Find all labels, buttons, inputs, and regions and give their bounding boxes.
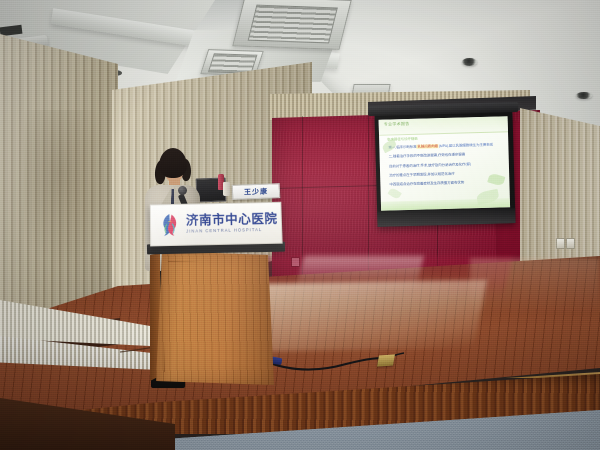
podium-sign-english: JINAN CENTRAL HOSPITAL [186,228,278,234]
recessed-downlight-icon [576,92,592,99]
projection-screen: 专业学术报告 临床路径与诊疗规范 第一,临床诊断标准乳腺间质肉瘤(MPA),是以… [374,111,515,227]
slide-bullet-post: (MPA),是以乳腺细胞增生为主要表现 [439,143,493,149]
paper-cup-icon [223,182,230,196]
jinan-central-hospital-logo-icon [156,212,182,239]
slide-bullet-highlight: 乳腺间质肉瘤 [416,144,439,149]
podium-sign-text: 济南市中心医院 JINAN CENTRAL HOSPITAL [186,213,278,234]
slide-bullet: 中西医结合治疗在改善症状及生存质量方面有优势 [389,181,501,188]
slide-bullet: 二,随着治疗手段的不断改进提高,疗效也在逐步提高 [389,153,501,160]
microphone-head-icon [178,186,187,195]
stage-reflection-right [470,258,600,314]
slide-bullet: 第一,临床诊断标准乳腺间质肉瘤(MPA),是以乳腺细胞增生为主要表现 [388,143,500,150]
slide-bullet: 治疗的重点在于早期发现,并加以规范化治疗 [389,171,501,178]
presenter-hair [159,148,187,178]
podium-inset-panel [164,261,266,377]
podium: 济南市中心医院 JINAN CENTRAL HOSPITAL [150,203,282,385]
nameplate-text: 王少康 [244,186,268,197]
wall-outlet-icon [566,238,575,249]
recessed-downlight-icon [462,58,477,66]
presentation-slide: 专业学术报告 临床路径与诊疗规范 第一,临床诊断标准乳腺间质肉瘤(MPA),是以… [379,116,510,211]
slide-header-title: 专业学术报告 [384,121,410,127]
nameplate: 王少康 [232,183,281,200]
vent-louvers [247,4,338,43]
podium-sign: 济南市中心医院 JINAN CENTRAL HOSPITAL [150,202,283,247]
vent-louvers [208,54,257,74]
wall-outlet-icon [556,238,565,249]
podium-sign-chinese: 济南市中心医院 [186,213,278,227]
floor-outlet-box-icon [377,354,395,366]
slide-bullet-pre: 治疗的重点在于早期发现,并加以规范化治疗 [389,172,455,178]
air-vent-large-icon [232,0,351,50]
wall-shadow [24,110,114,270]
slide-bullet: 目前对于患者的治疗,手术,放疗及内分泌治疗及化疗(都) [389,162,501,169]
slide-bullet-pre: 目前对于患者的治疗,手术,放疗及内分泌治疗及化疗 [389,162,466,168]
slide-bullet-pre: 二,随着治疗手段的不断改进提高,疗效也在逐步提高 [389,153,466,159]
conference-hall-photo: 专业学术报告 临床路径与诊疗规范 第一,临床诊断标准乳腺间质肉瘤(MPA),是以… [0,0,600,450]
slide-bullet-post: (都) [465,162,471,166]
slide-body: 第一,临床诊断标准乳腺间质肉瘤(MPA),是以乳腺细胞增生为主要表现 二,随着治… [388,143,501,193]
slide-bullet-pre: 中西医结合治疗在改善症状及生存质量方面有优势 [389,181,464,187]
